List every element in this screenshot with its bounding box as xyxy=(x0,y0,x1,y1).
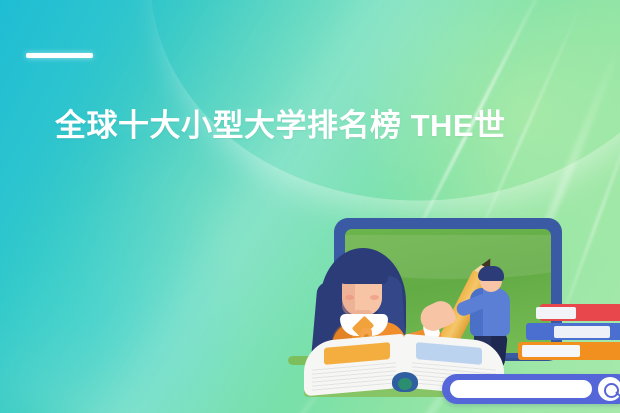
education-study-illustration xyxy=(282,196,620,413)
book-blue-pages xyxy=(554,326,610,338)
decorative-dash xyxy=(26,53,93,58)
cheek-right xyxy=(370,295,379,300)
cheek-left xyxy=(345,295,354,300)
stacked-books xyxy=(518,304,620,366)
search-input[interactable] xyxy=(450,380,592,398)
page-title: 全球十大小型大学排名榜 THE世 xyxy=(55,106,620,146)
book-orange-pages xyxy=(522,345,580,357)
book-red-pages xyxy=(536,307,576,319)
book-spine-inner xyxy=(398,378,412,390)
person-hair xyxy=(478,266,504,281)
hair-front xyxy=(336,258,388,284)
banner-canvas: 全球十大小型大学排名榜 THE世 xyxy=(0,0,620,413)
search-bar-graphic[interactable] xyxy=(442,374,620,404)
